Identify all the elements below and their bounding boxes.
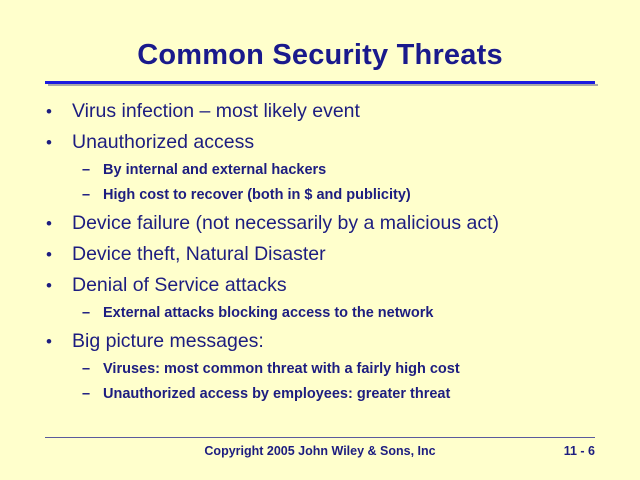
- sub-bullet-item: –Unauthorized access by employees: great…: [0, 382, 640, 407]
- sub-bullet-item: –External attacks blocking access to the…: [0, 301, 640, 326]
- slide: Common Security Threats •Virus infection…: [0, 0, 640, 480]
- bullet-dot-icon: •: [46, 96, 72, 127]
- bullet-label: Device theft, Natural Disaster: [72, 239, 326, 270]
- footer-divider: [45, 437, 595, 438]
- bullet-dot-icon: •: [46, 326, 72, 357]
- bullet-item: •Denial of Service attacks: [0, 270, 640, 301]
- bullet-dot-icon: •: [46, 127, 72, 158]
- bullet-dot-icon: •: [46, 239, 72, 270]
- title-underline-shadow: [48, 84, 598, 86]
- bullet-item: •Device failure (not necessarily by a ma…: [0, 208, 640, 239]
- bullet-list: •Virus infection – most likely event•Una…: [0, 96, 640, 407]
- bullet-dot-icon: •: [46, 270, 72, 301]
- bullet-item: •Unauthorized access: [0, 127, 640, 158]
- bullet-dash-icon: –: [82, 357, 103, 382]
- bullet-label: High cost to recover (both in $ and publ…: [103, 183, 411, 208]
- bullet-item: •Big picture messages:: [0, 326, 640, 357]
- sub-bullet-item: –High cost to recover (both in $ and pub…: [0, 183, 640, 208]
- bullet-dash-icon: –: [82, 183, 103, 208]
- copyright-text: Copyright 2005 John Wiley & Sons, Inc: [45, 443, 595, 459]
- bullet-label: Device failure (not necessarily by a mal…: [72, 208, 499, 239]
- bullet-label: Viruses: most common threat with a fairl…: [103, 357, 460, 382]
- bullet-label: External attacks blocking access to the …: [103, 301, 433, 326]
- bullet-item: •Device theft, Natural Disaster: [0, 239, 640, 270]
- bullet-label: Virus infection – most likely event: [72, 96, 360, 127]
- bullet-label: Unauthorized access: [72, 127, 254, 158]
- bullet-dash-icon: –: [82, 382, 103, 407]
- bullet-label: Denial of Service attacks: [72, 270, 287, 301]
- title-block: Common Security Threats: [0, 38, 640, 72]
- sub-bullet-item: –By internal and external hackers: [0, 158, 640, 183]
- page-title: Common Security Threats: [0, 38, 640, 72]
- bullet-label: Unauthorized access by employees: greate…: [103, 382, 450, 407]
- bullet-dot-icon: •: [46, 208, 72, 239]
- bullet-label: Big picture messages:: [72, 326, 264, 357]
- footer: Copyright 2005 John Wiley & Sons, Inc 11…: [45, 443, 595, 459]
- bullet-dash-icon: –: [82, 301, 103, 326]
- bullet-item: •Virus infection – most likely event: [0, 96, 640, 127]
- sub-bullet-item: –Viruses: most common threat with a fair…: [0, 357, 640, 382]
- page-number: 11 - 6: [564, 443, 595, 459]
- bullet-label: By internal and external hackers: [103, 158, 326, 183]
- bullet-dash-icon: –: [82, 158, 103, 183]
